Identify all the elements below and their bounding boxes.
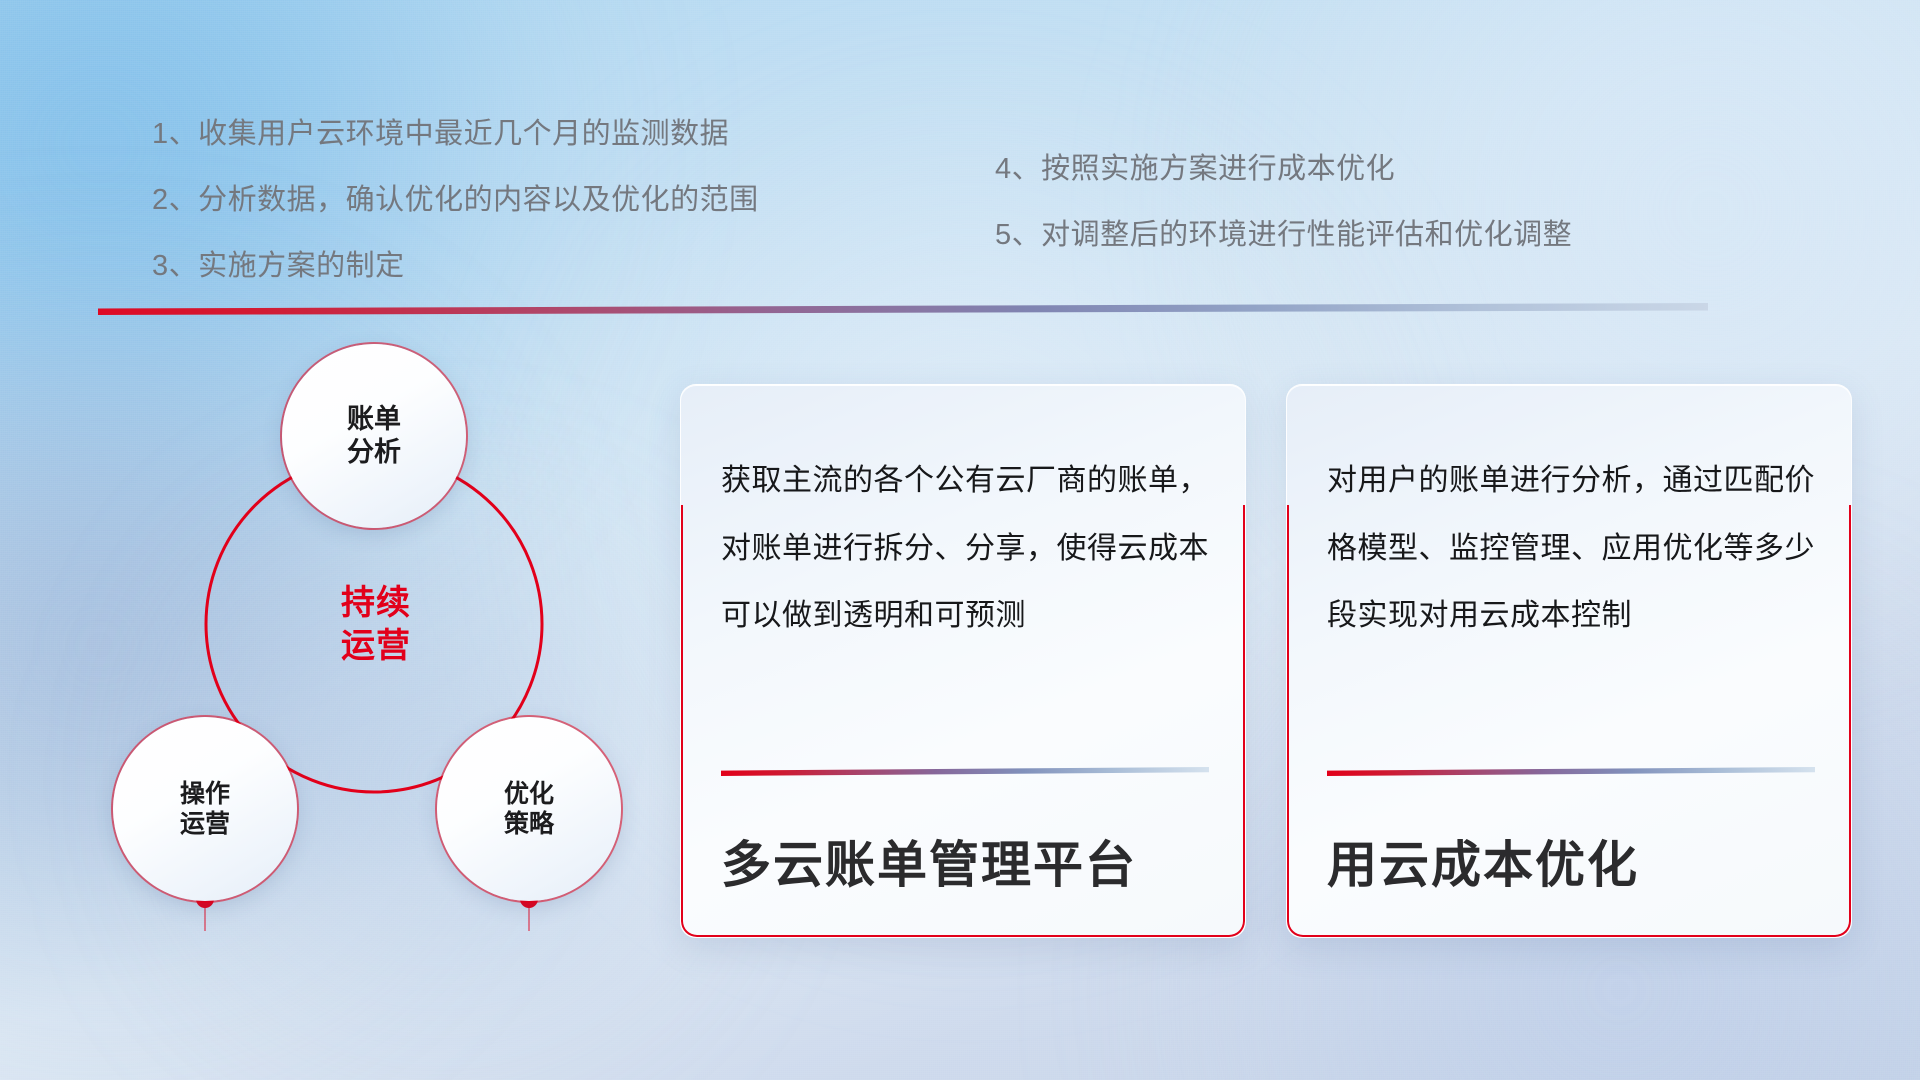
steps-left-column: 1、收集用户云环境中最近几个月的监测数据 2、分析数据，确认优化的内容以及优化的… <box>152 120 759 318</box>
feature-card-cost-optimization-body: 对用户的账单进行分析，通过匹配价格模型、监控管理、应用优化等多少段实现对用云成本… <box>1327 447 1817 650</box>
diagram-node-optimization-strategy-line1: 优化 <box>504 779 554 810</box>
diagram-node-bill-analysis[interactable]: 账单 分析 <box>282 344 466 528</box>
diagram-center-label-line2: 运营 <box>286 625 466 668</box>
feature-card-multicloud-billing-rule <box>721 767 1209 776</box>
steps-right-column: 4、按照实施方案进行成本优化 5、对调整后的环境进行性能评估和优化调整 <box>995 155 1572 287</box>
diagram-center-label: 持续 运营 <box>286 582 466 667</box>
diagram-node-bill-analysis-line2: 分析 <box>347 436 401 469</box>
step-item-1: 1、收集用户云环境中最近几个月的监测数据 <box>152 120 759 149</box>
step-item-5: 5、对调整后的环境进行性能评估和优化调整 <box>995 221 1572 250</box>
slide-canvas: 1、收集用户云环境中最近几个月的监测数据 2、分析数据，确认优化的内容以及优化的… <box>0 0 1920 1080</box>
feature-card-multicloud-billing[interactable]: 获取主流的各个公有云厂商的账单，对账单进行拆分、分享，使得云成本可以做到透明和可… <box>680 384 1246 938</box>
feature-card-cost-optimization[interactable]: 对用户的账单进行分析，通过匹配价格模型、监控管理、应用优化等多少段实现对用云成本… <box>1286 384 1852 938</box>
step-item-4: 4、按照实施方案进行成本优化 <box>995 155 1572 184</box>
continuous-operation-diagram: 账单 分析 操作 运营 优化 策略 持续 运营 <box>96 352 676 952</box>
feature-card-cost-optimization-title: 用云成本优化 <box>1327 825 1821 897</box>
feature-card-multicloud-billing-title: 多云账单管理平台 <box>721 825 1215 897</box>
feature-card-multicloud-billing-body: 获取主流的各个公有云厂商的账单，对账单进行拆分、分享，使得云成本可以做到透明和可… <box>721 447 1211 650</box>
diagram-node-operations-line1: 操作 <box>180 779 230 810</box>
feature-card-cost-optimization-rule <box>1327 767 1815 776</box>
diagram-center-label-line1: 持续 <box>286 582 466 625</box>
diagram-node-operations-line2: 运营 <box>180 809 230 840</box>
diagram-node-operations[interactable]: 操作 运营 <box>113 717 297 901</box>
diagram-node-optimization-strategy-line2: 策略 <box>504 809 554 840</box>
diagram-node-optimization-strategy[interactable]: 优化 策略 <box>437 717 621 901</box>
step-item-3: 3、实施方案的制定 <box>152 252 759 281</box>
step-item-2: 2、分析数据，确认优化的内容以及优化的范围 <box>152 186 759 215</box>
diagram-node-bill-analysis-line1: 账单 <box>347 403 401 436</box>
